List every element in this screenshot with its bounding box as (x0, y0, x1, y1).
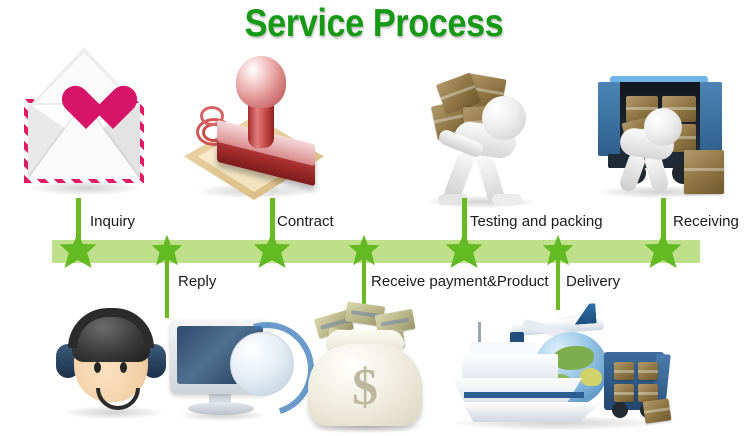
ship-hull-stripe (464, 392, 584, 398)
step-label-receiving: Receiving (673, 213, 739, 230)
step-label-contract: Contract (277, 213, 334, 230)
dollar-sign-icon: $ (342, 362, 388, 414)
step-label-delivery: Delivery (566, 273, 620, 290)
support-agent-monitor-globe-icon (52, 306, 290, 432)
ship-lower-hull (462, 402, 602, 422)
timeline-band (52, 240, 700, 263)
worker-carrying-boxes-icon (420, 68, 545, 203)
page-title: Service Process (45, 2, 703, 46)
connector-up-receive-payment (362, 258, 366, 306)
heart-icon (60, 87, 112, 137)
truck-door-left (598, 82, 620, 156)
delivery-truck-unloading-icon (592, 74, 724, 204)
cardboard-box (614, 362, 634, 380)
service-process-infographic: Service Process (0, 0, 748, 436)
cardboard-box (643, 398, 672, 423)
step-label-inquiry: Inquiry (90, 213, 135, 230)
envelope-heart-icon (14, 63, 154, 203)
logistics-plane-ship-truck-icon (448, 304, 672, 432)
stamp-handle-knob (236, 56, 286, 108)
envelope-shadow (30, 181, 140, 195)
agent-eye-left (94, 362, 101, 373)
ship-deck (462, 354, 558, 380)
rubber-stamp-icon (178, 58, 338, 208)
cardboard-box (638, 362, 658, 380)
worker-head (482, 96, 526, 140)
cardboard-box (684, 150, 724, 194)
connector-up-delivery (556, 258, 560, 310)
truck-wheel (612, 402, 628, 418)
cargo-ship-icon (452, 378, 582, 404)
headset-headband-icon (68, 308, 154, 348)
step-label-testing-and-packing: Testing and packing (470, 213, 603, 230)
money-bag-icon: $ (302, 300, 428, 432)
cardboard-box (614, 384, 634, 402)
agent-eye-right (120, 362, 127, 373)
worker-foot (492, 194, 522, 205)
step-label-reply: Reply (178, 273, 216, 290)
step-label-receive-payment-product: Receive payment&Product (371, 273, 549, 290)
globe-landmass (580, 368, 602, 386)
unloader-head (644, 108, 682, 146)
truck-door-right (700, 82, 722, 156)
